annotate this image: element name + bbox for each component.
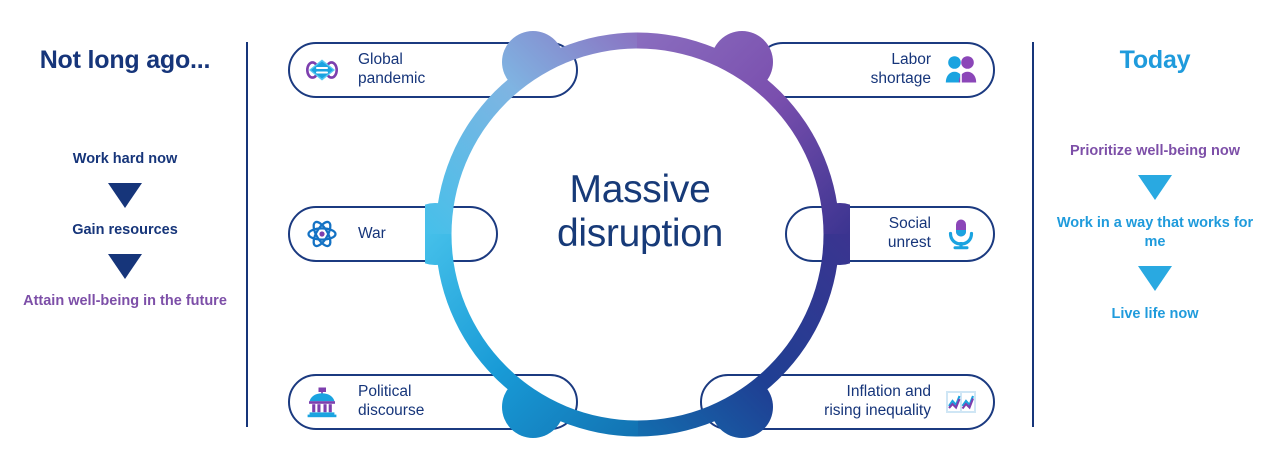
left-flow: Work hard now Gain resources Attain well… (0, 150, 250, 311)
pill-label: Inflation and rising inequality (824, 383, 931, 420)
center-label-line2: disruption (505, 212, 775, 256)
pill-label-line2: shortage (871, 70, 931, 89)
right-flow-step-2: Work in a way that works for me (1048, 214, 1263, 252)
two-people-icon (943, 52, 979, 88)
right-flow: Prioritize well-being now Work in a way … (1030, 142, 1280, 325)
line-chart-icon (943, 384, 979, 420)
microphone-icon (943, 216, 979, 252)
pill-global-pandemic[interactable]: Global pandemic (288, 42, 578, 98)
down-arrow-icon (1138, 266, 1172, 291)
pill-label: Social unrest (888, 215, 931, 252)
pill-social-unrest[interactable]: Social unrest (785, 206, 995, 262)
left-flow-step-1: Work hard now (18, 150, 233, 169)
pill-label: War (358, 225, 386, 244)
pill-label-line1: Inflation and (824, 383, 931, 402)
pill-label: Global pandemic (358, 51, 425, 88)
pill-label-line1: Political (358, 383, 424, 402)
pill-label-line2: unrest (888, 234, 931, 253)
down-arrow-icon (1138, 175, 1172, 200)
down-arrow-icon (108, 183, 142, 208)
down-arrow-icon (108, 254, 142, 279)
right-flow-step-1: Prioritize well-being now (1048, 142, 1263, 161)
pill-inflation-inequality[interactable]: Inflation and rising inequality (700, 374, 995, 430)
infographic-canvas: Not long ago... Work hard now Gain resou… (0, 0, 1280, 468)
pill-label-line1: War (358, 225, 386, 244)
pill-label-line2: pandemic (358, 70, 425, 89)
pill-label-line1: Social (888, 215, 931, 234)
government-building-icon (304, 384, 340, 420)
left-column-title: Not long ago... (0, 46, 250, 75)
right-column-title: Today (1030, 46, 1280, 75)
right-column: Today Prioritize well-being now Work in … (1030, 0, 1280, 468)
pill-label-line2: discourse (358, 402, 424, 421)
face-mask-icon (304, 52, 340, 88)
left-divider (246, 42, 248, 427)
pill-labor-shortage[interactable]: Labor shortage (755, 42, 995, 98)
atom-icon (304, 216, 340, 252)
left-column: Not long ago... Work hard now Gain resou… (0, 0, 250, 468)
pill-label-line1: Global (358, 51, 425, 70)
pill-label-line1: Labor (871, 51, 931, 70)
right-flow-step-3: Live life now (1048, 305, 1263, 324)
left-flow-step-3: Attain well-being in the future (18, 292, 233, 311)
pill-political-discourse[interactable]: Political discourse (288, 374, 578, 430)
right-divider (1032, 42, 1034, 427)
center-label-line1: Massive (505, 168, 775, 212)
pill-label: Political discourse (358, 383, 424, 420)
pill-war[interactable]: War (288, 206, 498, 262)
pill-label-line2: rising inequality (824, 402, 931, 421)
pill-label: Labor shortage (871, 51, 931, 88)
center-label: Massive disruption (505, 168, 775, 256)
left-flow-step-2: Gain resources (18, 221, 233, 240)
